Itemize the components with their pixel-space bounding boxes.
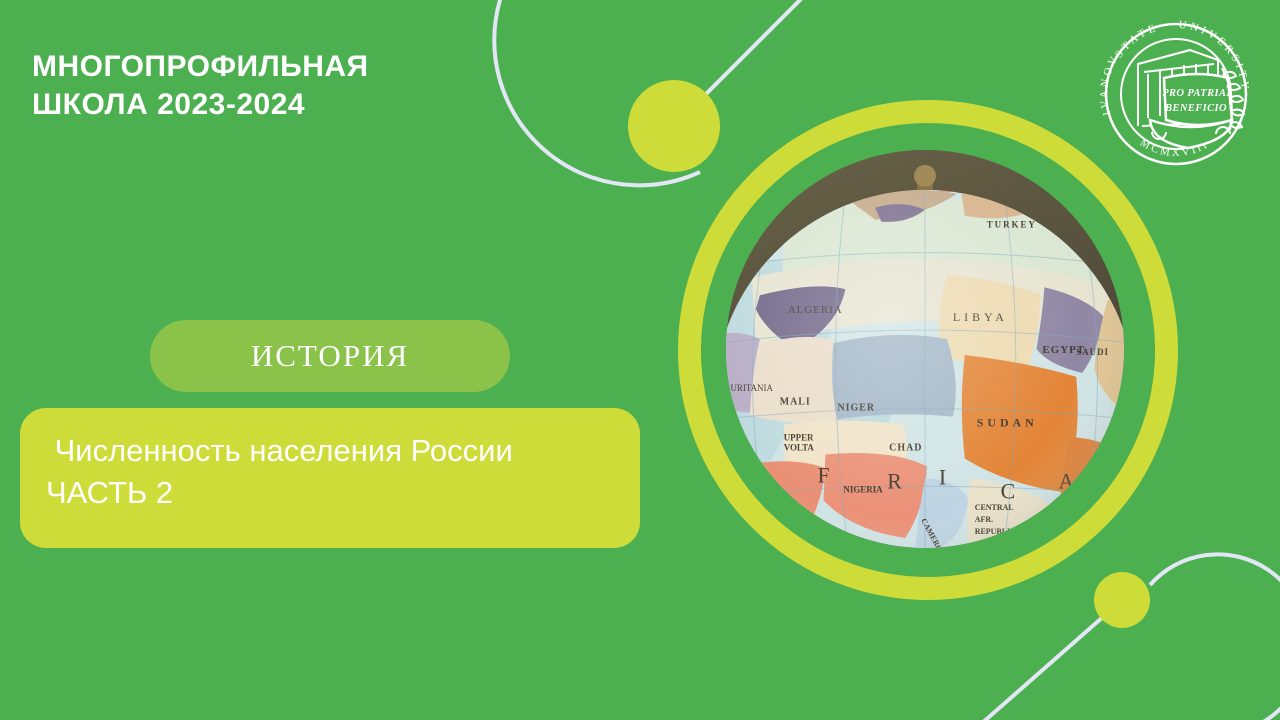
header-line-1: МНОГОПРОФИЛЬНАЯ: [32, 48, 592, 86]
university-seal-logo: STATE · UNIVERSITY IVANOVO MCMXVIII: [1090, 8, 1262, 180]
header-line-2: ШКОЛА 2023-2024: [32, 86, 592, 124]
seal-motto-line-2: BENEFICIO: [1164, 103, 1227, 114]
subject-badge[interactable]: ИСТОРИЯ: [150, 320, 510, 392]
globe-photo: ALGERIA LIBYA EGYPT SUDAN CHAD NIGER MAL…: [726, 150, 1124, 548]
university-seal-art: STATE · UNIVERSITY IVANOVO MCMXVIII: [1090, 8, 1262, 180]
presentation-slide: МНОГОПРОФИЛЬНАЯ ШКОЛА 2023-2024: [0, 0, 1280, 720]
seal-scroll: PRO PATRIAE BENEFICIO: [1150, 74, 1234, 148]
seal-motto-line-1: PRO PATRIAE: [1162, 88, 1234, 99]
seal-left-text: IVANOVO: [1090, 8, 1122, 117]
slide-title-line-1: Численность населения России: [46, 430, 614, 472]
slide-header: МНОГОПРОФИЛЬНАЯ ШКОЛА 2023-2024: [32, 48, 592, 125]
slide-title-line-2: ЧАСТЬ 2: [46, 472, 614, 514]
bottom-diagonal-line: [940, 602, 1120, 720]
slide-title-panel: Численность населения России ЧАСТЬ 2: [20, 408, 640, 548]
subject-badge-label: ИСТОРИЯ: [251, 338, 409, 374]
globe-photo-art: ALGERIA LIBYA EGYPT SUDAN CHAD NIGER MAL…: [726, 150, 1124, 548]
